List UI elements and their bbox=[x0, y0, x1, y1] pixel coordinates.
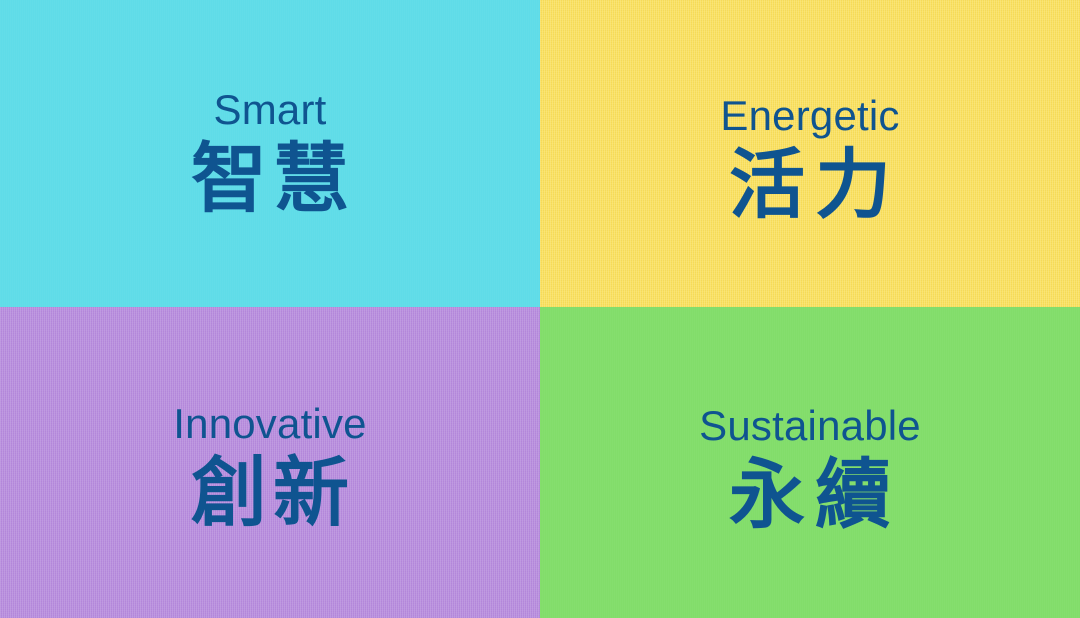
value-card-smart[interactable]: Smart 智慧 bbox=[0, 0, 540, 307]
value-card-sustainable[interactable]: Sustainable 永續 bbox=[540, 307, 1080, 618]
value-label-en-innovative: Innovative bbox=[173, 402, 366, 446]
value-label-en-smart: Smart bbox=[213, 88, 326, 132]
value-label-zh-sustainable: 永續 bbox=[719, 452, 901, 537]
value-label-en-energetic: Energetic bbox=[720, 94, 899, 138]
value-label-zh-innovative: 創新 bbox=[185, 450, 355, 535]
value-label-zh-energetic: 活力 bbox=[719, 142, 901, 227]
value-label-en-sustainable: Sustainable bbox=[699, 404, 921, 448]
value-card-energetic-labels: Energetic 活力 bbox=[719, 94, 901, 227]
value-card-energetic[interactable]: Energetic 活力 bbox=[540, 0, 1080, 307]
value-card-innovative-labels: Innovative 創新 bbox=[173, 402, 366, 535]
value-card-sustainable-labels: Sustainable 永續 bbox=[699, 404, 921, 537]
value-card-innovative[interactable]: Innovative 創新 bbox=[0, 307, 540, 618]
value-card-smart-labels: Smart 智慧 bbox=[185, 88, 355, 221]
value-label-zh-smart: 智慧 bbox=[185, 136, 355, 221]
brand-values-grid: Smart 智慧 Energetic 活力 Innovative 創新 Sust… bbox=[0, 0, 1080, 618]
